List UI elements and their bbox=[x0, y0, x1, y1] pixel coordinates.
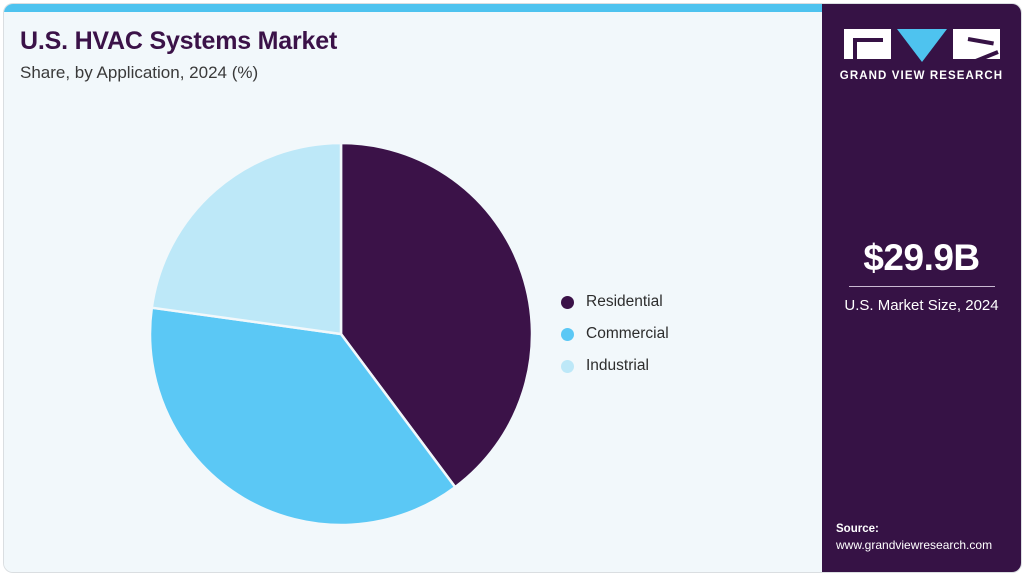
infographic-card: U.S. HVAC Systems Market Share, by Appli… bbox=[4, 4, 1021, 572]
pie-chart bbox=[144, 137, 538, 531]
legend-swatch-residential bbox=[561, 296, 574, 309]
legend-item-industrial[interactable]: Industrial bbox=[561, 350, 791, 382]
pie-chart-svg bbox=[144, 137, 538, 531]
source-footer: Source: www.grandviewresearch.com bbox=[836, 521, 1018, 554]
legend-label-residential: Residential bbox=[586, 293, 663, 311]
title-group: U.S. HVAC Systems Market Share, by Appli… bbox=[20, 26, 720, 85]
stat-divider bbox=[849, 286, 995, 287]
brand-sidebar: GRAND VIEW RESEARCH $29.9B U.S. Market S… bbox=[822, 4, 1021, 572]
source-url[interactable]: www.grandviewresearch.com bbox=[836, 537, 1018, 554]
chart-legend: Residential Commercial Industrial bbox=[561, 286, 791, 382]
market-size-stat: $29.9B U.S. Market Size, 2024 bbox=[822, 236, 1021, 317]
top-accent-bar bbox=[4, 4, 822, 12]
brand-logo: GRAND VIEW RESEARCH bbox=[822, 29, 1021, 82]
pie-slice-industrial[interactable] bbox=[152, 143, 341, 334]
legend-item-commercial[interactable]: Commercial bbox=[561, 318, 791, 350]
page-subtitle: Share, by Application, 2024 (%) bbox=[20, 61, 720, 85]
page-title: U.S. HVAC Systems Market bbox=[20, 26, 720, 56]
legend-swatch-industrial bbox=[561, 360, 574, 373]
chart-panel: U.S. HVAC Systems Market Share, by Appli… bbox=[4, 4, 822, 572]
legend-label-commercial: Commercial bbox=[586, 325, 669, 343]
legend-label-industrial: Industrial bbox=[586, 357, 649, 375]
logo-wordmark: GRAND VIEW RESEARCH bbox=[822, 70, 1021, 82]
infographic-root: U.S. HVAC Systems Market Share, by Appli… bbox=[0, 0, 1025, 576]
pie-slice-group bbox=[150, 143, 532, 525]
logo-letterforms bbox=[822, 29, 1021, 61]
logo-g-icon bbox=[844, 29, 891, 59]
source-label: Source: bbox=[836, 521, 1018, 537]
logo-v-triangle-icon bbox=[897, 29, 947, 62]
legend-item-residential[interactable]: Residential bbox=[561, 286, 791, 318]
logo-r-icon bbox=[953, 29, 1000, 59]
legend-swatch-commercial bbox=[561, 328, 574, 341]
market-size-caption: U.S. Market Size, 2024 bbox=[822, 295, 1021, 317]
market-size-value: $29.9B bbox=[822, 236, 1021, 280]
